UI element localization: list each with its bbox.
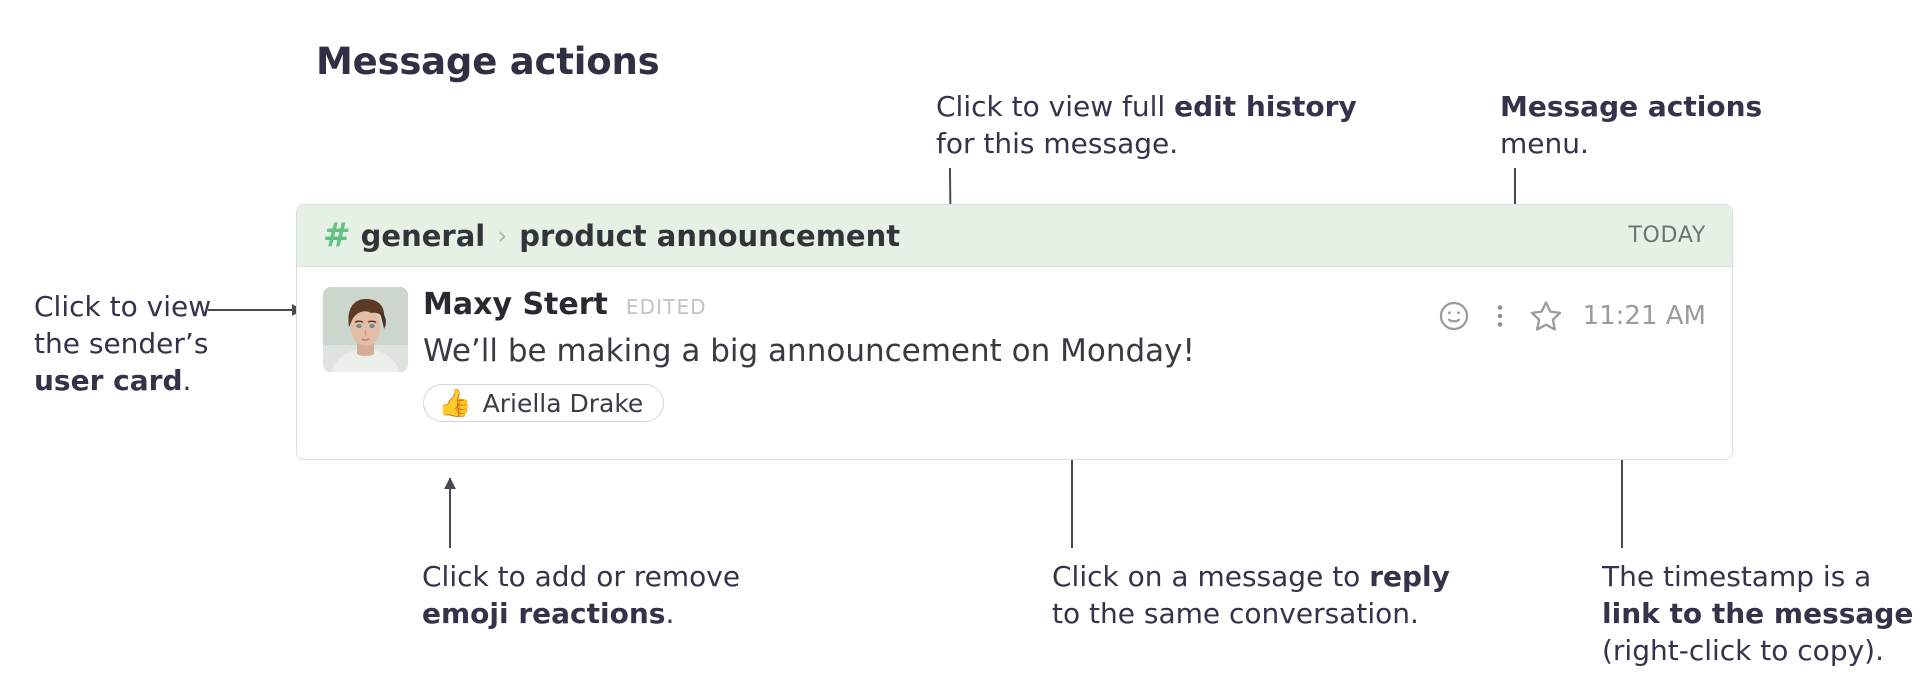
annotation-emphasis: emoji reactions xyxy=(422,597,665,630)
annotation-text: . xyxy=(183,364,192,397)
add-reaction-icon[interactable] xyxy=(1431,293,1477,339)
annotation-edit-history: Click to view full edit history for this… xyxy=(936,88,1357,162)
breadcrumb-topic[interactable]: product announcement xyxy=(519,219,900,253)
annotation-text: Click to view full xyxy=(936,90,1174,123)
annotation-user-card-line1: Click to view xyxy=(34,288,211,325)
annotation-text: . xyxy=(665,597,674,630)
avatar[interactable] xyxy=(323,287,408,372)
annotation-edit-history-line2: for this message. xyxy=(936,125,1357,162)
page-title: Message actions xyxy=(316,40,659,83)
date-label: TODAY xyxy=(1628,223,1706,248)
annotation-user-card-line2: the sender’s xyxy=(34,325,211,362)
message-actions-group: 11:21 AM xyxy=(1431,293,1706,339)
annotation-emoji-reactions-line1: Click to add or remove xyxy=(422,558,740,595)
annotation-emphasis: Message actions xyxy=(1500,90,1762,123)
annotation-emphasis: link to the message xyxy=(1602,597,1913,630)
edited-badge[interactable]: EDITED xyxy=(626,295,707,319)
reaction-pill[interactable]: 👍 Ariella Drake xyxy=(423,384,664,422)
breadcrumb-channel[interactable]: general xyxy=(361,219,486,253)
annotation-timestamp: The timestamp is a link to the message (… xyxy=(1602,558,1913,669)
annotation-emoji-reactions: Click to add or remove emoji reactions. xyxy=(422,558,740,632)
annotation-reply: Click on a message to reply to the same … xyxy=(1052,558,1450,632)
annotation-emphasis: user card xyxy=(34,364,183,397)
message-card: # general › product announcement TODAY xyxy=(296,204,1733,460)
thumbs-up-icon: 👍 xyxy=(438,390,472,417)
annotation-text: Click on a message to xyxy=(1052,560,1369,593)
illustration-canvas: Message actions Click to view full edit … xyxy=(0,0,1924,696)
annotation-timestamp-line1: The timestamp is a xyxy=(1602,558,1913,595)
annotation-actions-menu-line2: menu. xyxy=(1500,125,1762,162)
hash-icon: # xyxy=(323,218,351,251)
avatar-image xyxy=(323,287,408,372)
message-actions-menu-icon[interactable] xyxy=(1477,293,1523,339)
annotation-reply-line2: to the same conversation. xyxy=(1052,595,1450,632)
annotation-emphasis: edit history xyxy=(1174,90,1357,123)
sender-name[interactable]: Maxy Stert xyxy=(423,287,608,322)
reaction-row: 👍 Ariella Drake xyxy=(423,384,1706,422)
annotation-timestamp-line3: (right-click to copy). xyxy=(1602,632,1913,669)
annotation-edit-history-line1: Click to view full edit history xyxy=(936,88,1357,125)
star-icon[interactable] xyxy=(1523,293,1569,339)
message-timestamp-link[interactable]: 11:21 AM xyxy=(1583,301,1706,331)
annotation-actions-menu: Message actions menu. xyxy=(1500,88,1762,162)
chevron-right-icon: › xyxy=(497,221,507,250)
card-header: # general › product announcement TODAY xyxy=(297,205,1732,267)
message-row[interactable]: Maxy Stert EDITED We’ll be making a big … xyxy=(297,267,1732,422)
annotation-user-card: Click to view the sender’s user card. xyxy=(34,288,211,399)
reaction-label: Ariella Drake xyxy=(483,389,644,418)
annotation-emphasis: reply xyxy=(1369,560,1450,593)
